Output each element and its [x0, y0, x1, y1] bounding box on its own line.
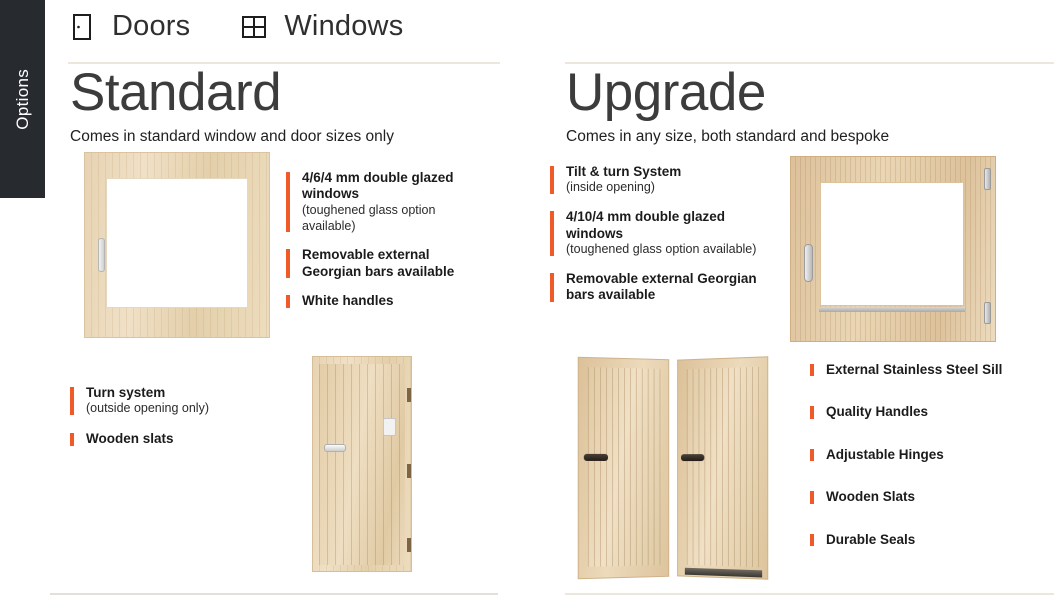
standard-subtitle: Comes in standard window and door sizes …	[70, 128, 394, 146]
feature-item: Removable external Georgian bars availab…	[550, 271, 765, 304]
window-grid-icon	[240, 13, 268, 41]
door-dark-handle	[681, 454, 704, 461]
standard-column-header: Standard Comes in standard window and do…	[70, 66, 394, 146]
window-hinge	[984, 302, 991, 324]
feature-title: External Stainless Steel Sill	[826, 362, 1040, 378]
tab-windows[interactable]: Windows	[240, 10, 453, 43]
feature-title: Turn system	[86, 385, 280, 401]
feature-item: Tilt & turn System (inside opening)	[550, 164, 765, 196]
upgrade-doors-image	[578, 358, 768, 578]
door-dark-handle	[584, 454, 608, 461]
feature-item: Quality Handles	[810, 404, 1040, 420]
bullet-bar	[810, 364, 814, 376]
feature-title: Adjustable Hinges	[826, 447, 1040, 463]
door-slat-leaf	[588, 367, 662, 567]
door-hinge	[407, 464, 411, 478]
divider-bottom-left	[50, 593, 498, 595]
feature-item: Durable Seals	[810, 532, 1040, 548]
standard-door-features: Turn system (outside opening only) Woode…	[70, 385, 280, 462]
bullet-bar	[810, 491, 814, 503]
standard-door-image	[312, 356, 412, 572]
feature-title: Durable Seals	[826, 532, 1040, 548]
window-glass	[106, 178, 248, 308]
bullet-bar	[810, 534, 814, 546]
tab-windows-label: Windows	[284, 10, 403, 43]
feature-item: Turn system (outside opening only)	[70, 385, 280, 417]
upgrade-window-image	[790, 156, 996, 342]
feature-item: Removable external Georgian bars availab…	[286, 247, 486, 280]
feature-title: Quality Handles	[826, 404, 1040, 420]
feature-title: White handles	[302, 293, 486, 309]
feature-note: (outside opening only)	[86, 401, 280, 417]
standard-window-image	[84, 152, 270, 338]
page-title-standard: Standard	[70, 66, 394, 119]
feature-item: 4/10/4 mm double glazed windows (toughen…	[550, 209, 765, 258]
door-lock-plate	[383, 418, 396, 436]
door-leaf-right	[677, 356, 768, 579]
tab-bar: Doors Windows	[68, 10, 453, 43]
window-metal-handle	[804, 244, 813, 282]
bullet-bar	[70, 387, 74, 415]
upgrade-column-header: Upgrade Comes in any size, both standard…	[566, 66, 889, 146]
feature-item: Wooden slats	[70, 431, 280, 447]
upgrade-door-features: External Stainless Steel Sill Quality Ha…	[810, 362, 1040, 574]
door-hinge	[407, 538, 411, 552]
upgrade-window-features: Tilt & turn System (inside opening) 4/10…	[550, 164, 765, 317]
feature-item: External Stainless Steel Sill	[810, 362, 1040, 378]
feature-title: 4/6/4 mm double glazed windows	[302, 170, 486, 203]
standard-window-features: 4/6/4 mm double glazed windows (toughene…	[286, 170, 486, 323]
door-slat-leaf	[687, 367, 760, 568]
bullet-bar	[286, 249, 290, 278]
options-comparison-page: Options Doors Windows	[0, 0, 1054, 608]
bullet-bar	[550, 273, 554, 302]
feature-note: (toughened glass option available)	[302, 203, 486, 234]
feature-title: Wooden slats	[86, 431, 280, 447]
bullet-bar	[550, 166, 554, 194]
window-hinge	[984, 168, 991, 190]
feature-title: Wooden Slats	[826, 489, 1040, 505]
window-white-handle	[98, 238, 105, 272]
bullet-bar	[286, 295, 290, 307]
window-glass	[820, 182, 964, 306]
divider-bottom-right	[565, 593, 1054, 595]
sidebar-options-label: Options	[13, 69, 33, 130]
door-slat-leaf	[319, 364, 405, 565]
bullet-bar	[550, 211, 554, 256]
tab-doors[interactable]: Doors	[68, 10, 240, 43]
tab-doors-label: Doors	[112, 10, 190, 43]
feature-item: White handles	[286, 293, 486, 309]
page-title-upgrade: Upgrade	[566, 66, 889, 119]
door-icon	[68, 13, 96, 41]
door-white-handle	[324, 444, 346, 452]
feature-item: Adjustable Hinges	[810, 447, 1040, 463]
feature-title: Removable external Georgian bars availab…	[302, 247, 486, 280]
bullet-bar	[810, 406, 814, 418]
feature-title: Tilt & turn System	[566, 164, 765, 180]
feature-note: (inside opening)	[566, 180, 765, 196]
sidebar-options-tab[interactable]: Options	[0, 0, 45, 198]
door-hinge	[407, 388, 411, 402]
feature-title: 4/10/4 mm double glazed windows	[566, 209, 765, 242]
upgrade-subtitle: Comes in any size, both standard and bes…	[566, 128, 889, 146]
feature-title: Removable external Georgian bars availab…	[566, 271, 765, 304]
bullet-bar	[810, 449, 814, 461]
bullet-bar	[286, 172, 290, 232]
stainless-steel-sill	[819, 307, 965, 312]
feature-item: 4/6/4 mm double glazed windows (toughene…	[286, 170, 486, 234]
feature-item: Wooden Slats	[810, 489, 1040, 505]
door-leaf-left	[578, 357, 670, 580]
feature-note: (toughened glass option available)	[566, 242, 765, 258]
bullet-bar	[70, 433, 74, 445]
